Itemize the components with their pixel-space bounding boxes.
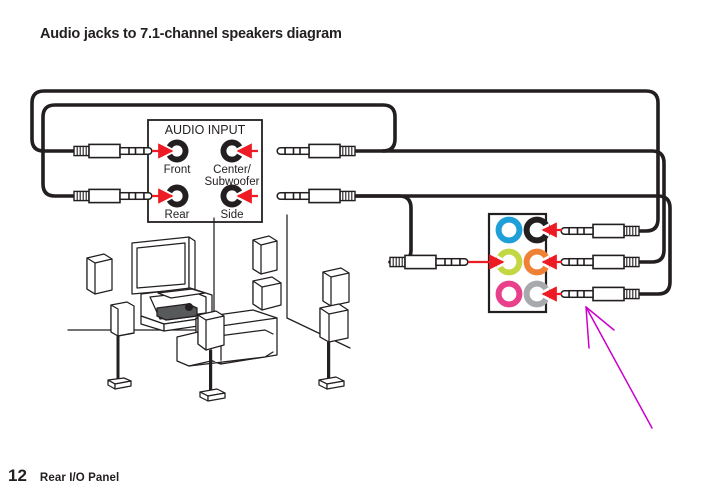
rear-right-speaker-stand (319, 268, 349, 389)
footer-page-number: 12 (8, 466, 27, 486)
plug-center-sub-out[interactable] (561, 255, 639, 268)
rear-left-speaker (323, 234, 349, 270)
footer-section-label: Rear I/O Panel (40, 472, 119, 484)
cable-front-to-rear-speaker (32, 91, 658, 231)
audio-wiring-diagram: AUDIO INPUT Front Center/ Subwoofer (0, 0, 712, 502)
surround-left-speaker (87, 254, 112, 294)
television (132, 237, 195, 294)
audio-input-heading: AUDIO INPUT (165, 123, 246, 137)
plug-side[interactable] (277, 189, 355, 202)
surround-right-speaker (253, 277, 281, 310)
handdrawn-arrow-icon (586, 307, 652, 428)
manual-page: Audio jacks to 7.1-channel speakers diag… (0, 0, 712, 502)
audio-input-jack-front-label: Front (164, 164, 192, 176)
front-left-speaker-stand (108, 302, 134, 389)
center-speaker (253, 236, 277, 274)
annotation-arrow-shaft (586, 307, 652, 428)
plug-center-subwoofer[interactable] (277, 144, 355, 157)
plug-rear[interactable] (74, 189, 152, 202)
annotation-arrow-head-right (586, 307, 614, 330)
audio-input-jack-side-label: Side (220, 209, 243, 221)
plug-side-speaker-out[interactable] (561, 287, 639, 300)
audio-input-box: AUDIO INPUT Front Center/ Subwoofer (148, 120, 262, 222)
plug-line-out-green[interactable] (390, 255, 468, 268)
home-theater-room-illustration (68, 215, 350, 401)
shelf-speaker-right (301, 297, 324, 328)
audio-input-jack-center-subwoofer-label: Center/ (213, 164, 252, 176)
audio-input-jack-rear-label: Rear (165, 209, 190, 221)
page-footer: 12 Rear I/O Panel (8, 466, 119, 486)
plug-rear-speaker-out[interactable] (561, 224, 639, 237)
plug-front[interactable] (74, 144, 152, 157)
cable-to-line-out-green (355, 196, 411, 262)
